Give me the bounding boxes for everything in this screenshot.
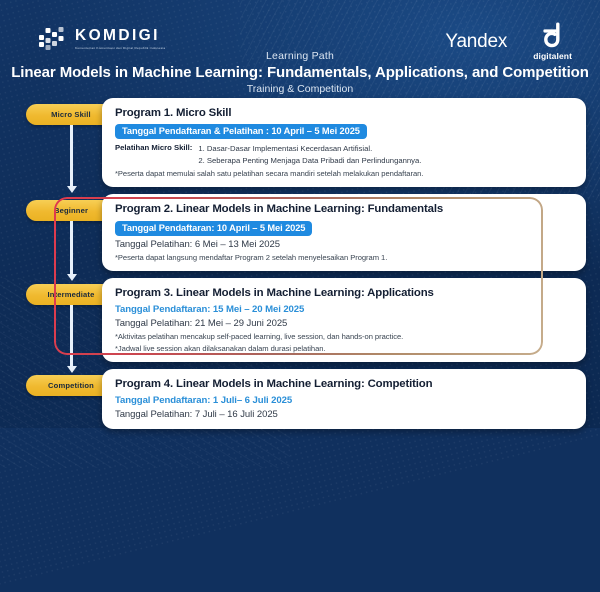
program-card-4[interactable]: Program 4. Linear Models in Machine Lear… [102, 369, 586, 429]
program-row-3: Intermediate Program 3. Linear Models in… [26, 278, 586, 362]
program-note-3-1: *Aktivitas pelatihan mencakup self-paced… [115, 332, 573, 341]
header: KOMDIGI Kementerian Komunikasi dan Digit… [0, 0, 600, 98]
sub-item-1-2: 2. Seberapa Penting Menjaga Data Pribadi… [198, 156, 421, 165]
title-block: Learning Path Linear Models in Machine L… [0, 50, 600, 95]
page-subtitle: Training & Competition [0, 83, 600, 95]
program-note-1-1: *Peserta dapat memulai salah satu pelati… [115, 169, 573, 178]
program-title-2: Program 2. Linear Models in Machine Lear… [115, 202, 573, 216]
program-row-4: Competition Program 4. Linear Models in … [26, 369, 586, 429]
page-title: Linear Models in Machine Learning: Funda… [0, 64, 600, 81]
flow-arrow-2 [70, 221, 73, 275]
program-note-2-1: *Peserta dapat langsung mendaftar Progra… [115, 253, 573, 262]
program-title-4: Program 4. Linear Models in Machine Lear… [115, 377, 573, 391]
training-line-2: Tanggal Pelatihan: 6 Mei – 13 Mei 2025 [115, 239, 573, 250]
program-card-1[interactable]: Program 1. Micro Skill Tanggal Pendaftar… [102, 98, 586, 187]
program-row-1: Micro Skill Program 1. Micro Skill Tangg… [26, 98, 586, 187]
training-line-3: Tanggal Pelatihan: 21 Mei – 29 Juni 2025 [115, 318, 573, 329]
registration-pill-2: Tanggal Pendaftaran: 10 April – 5 Mei 20… [115, 221, 312, 236]
training-line-4: Tanggal Pelatihan: 7 Juli – 16 Juli 2025 [115, 409, 573, 420]
program-row-2: Beginner Program 2. Linear Models in Mac… [26, 194, 586, 270]
digitalent-d-icon [540, 22, 566, 48]
sub-label-1: Pelatihan Micro Skill: [115, 143, 192, 166]
sub-items-1: 1. Dasar-Dasar Implementasi Kecerdasan A… [198, 143, 421, 166]
program-card-2[interactable]: Program 2. Linear Models in Machine Lear… [102, 194, 586, 270]
registration-text-3: Tanggal Pendaftaran: 15 Mei – 20 Mei 202… [115, 304, 573, 315]
learning-path-flow: Micro Skill Program 1. Micro Skill Tangg… [0, 98, 600, 429]
flow-arrow-1 [70, 125, 73, 187]
program-subsection-1: Pelatihan Micro Skill: 1. Dasar-Dasar Im… [115, 143, 573, 166]
program-card-3[interactable]: Program 3. Linear Models in Machine Lear… [102, 278, 586, 362]
sub-item-1-1: 1. Dasar-Dasar Implementasi Kecerdasan A… [198, 144, 372, 153]
program-title-1: Program 1. Micro Skill [115, 106, 573, 120]
flow-arrow-3 [70, 305, 73, 367]
registration-pill-1: Tanggal Pendaftaran & Pelatihan : 10 Apr… [115, 124, 367, 139]
program-title-3: Program 3. Linear Models in Machine Lear… [115, 286, 573, 300]
komdigi-name: KOMDIGI [75, 28, 165, 44]
learning-path-label: Learning Path [0, 50, 600, 62]
registration-text-4: Tanggal Pendaftaran: 1 Juli– 6 Juli 2025 [115, 395, 573, 406]
program-note-3-2: *Jadwal live session akan dilaksanakan d… [115, 344, 573, 353]
